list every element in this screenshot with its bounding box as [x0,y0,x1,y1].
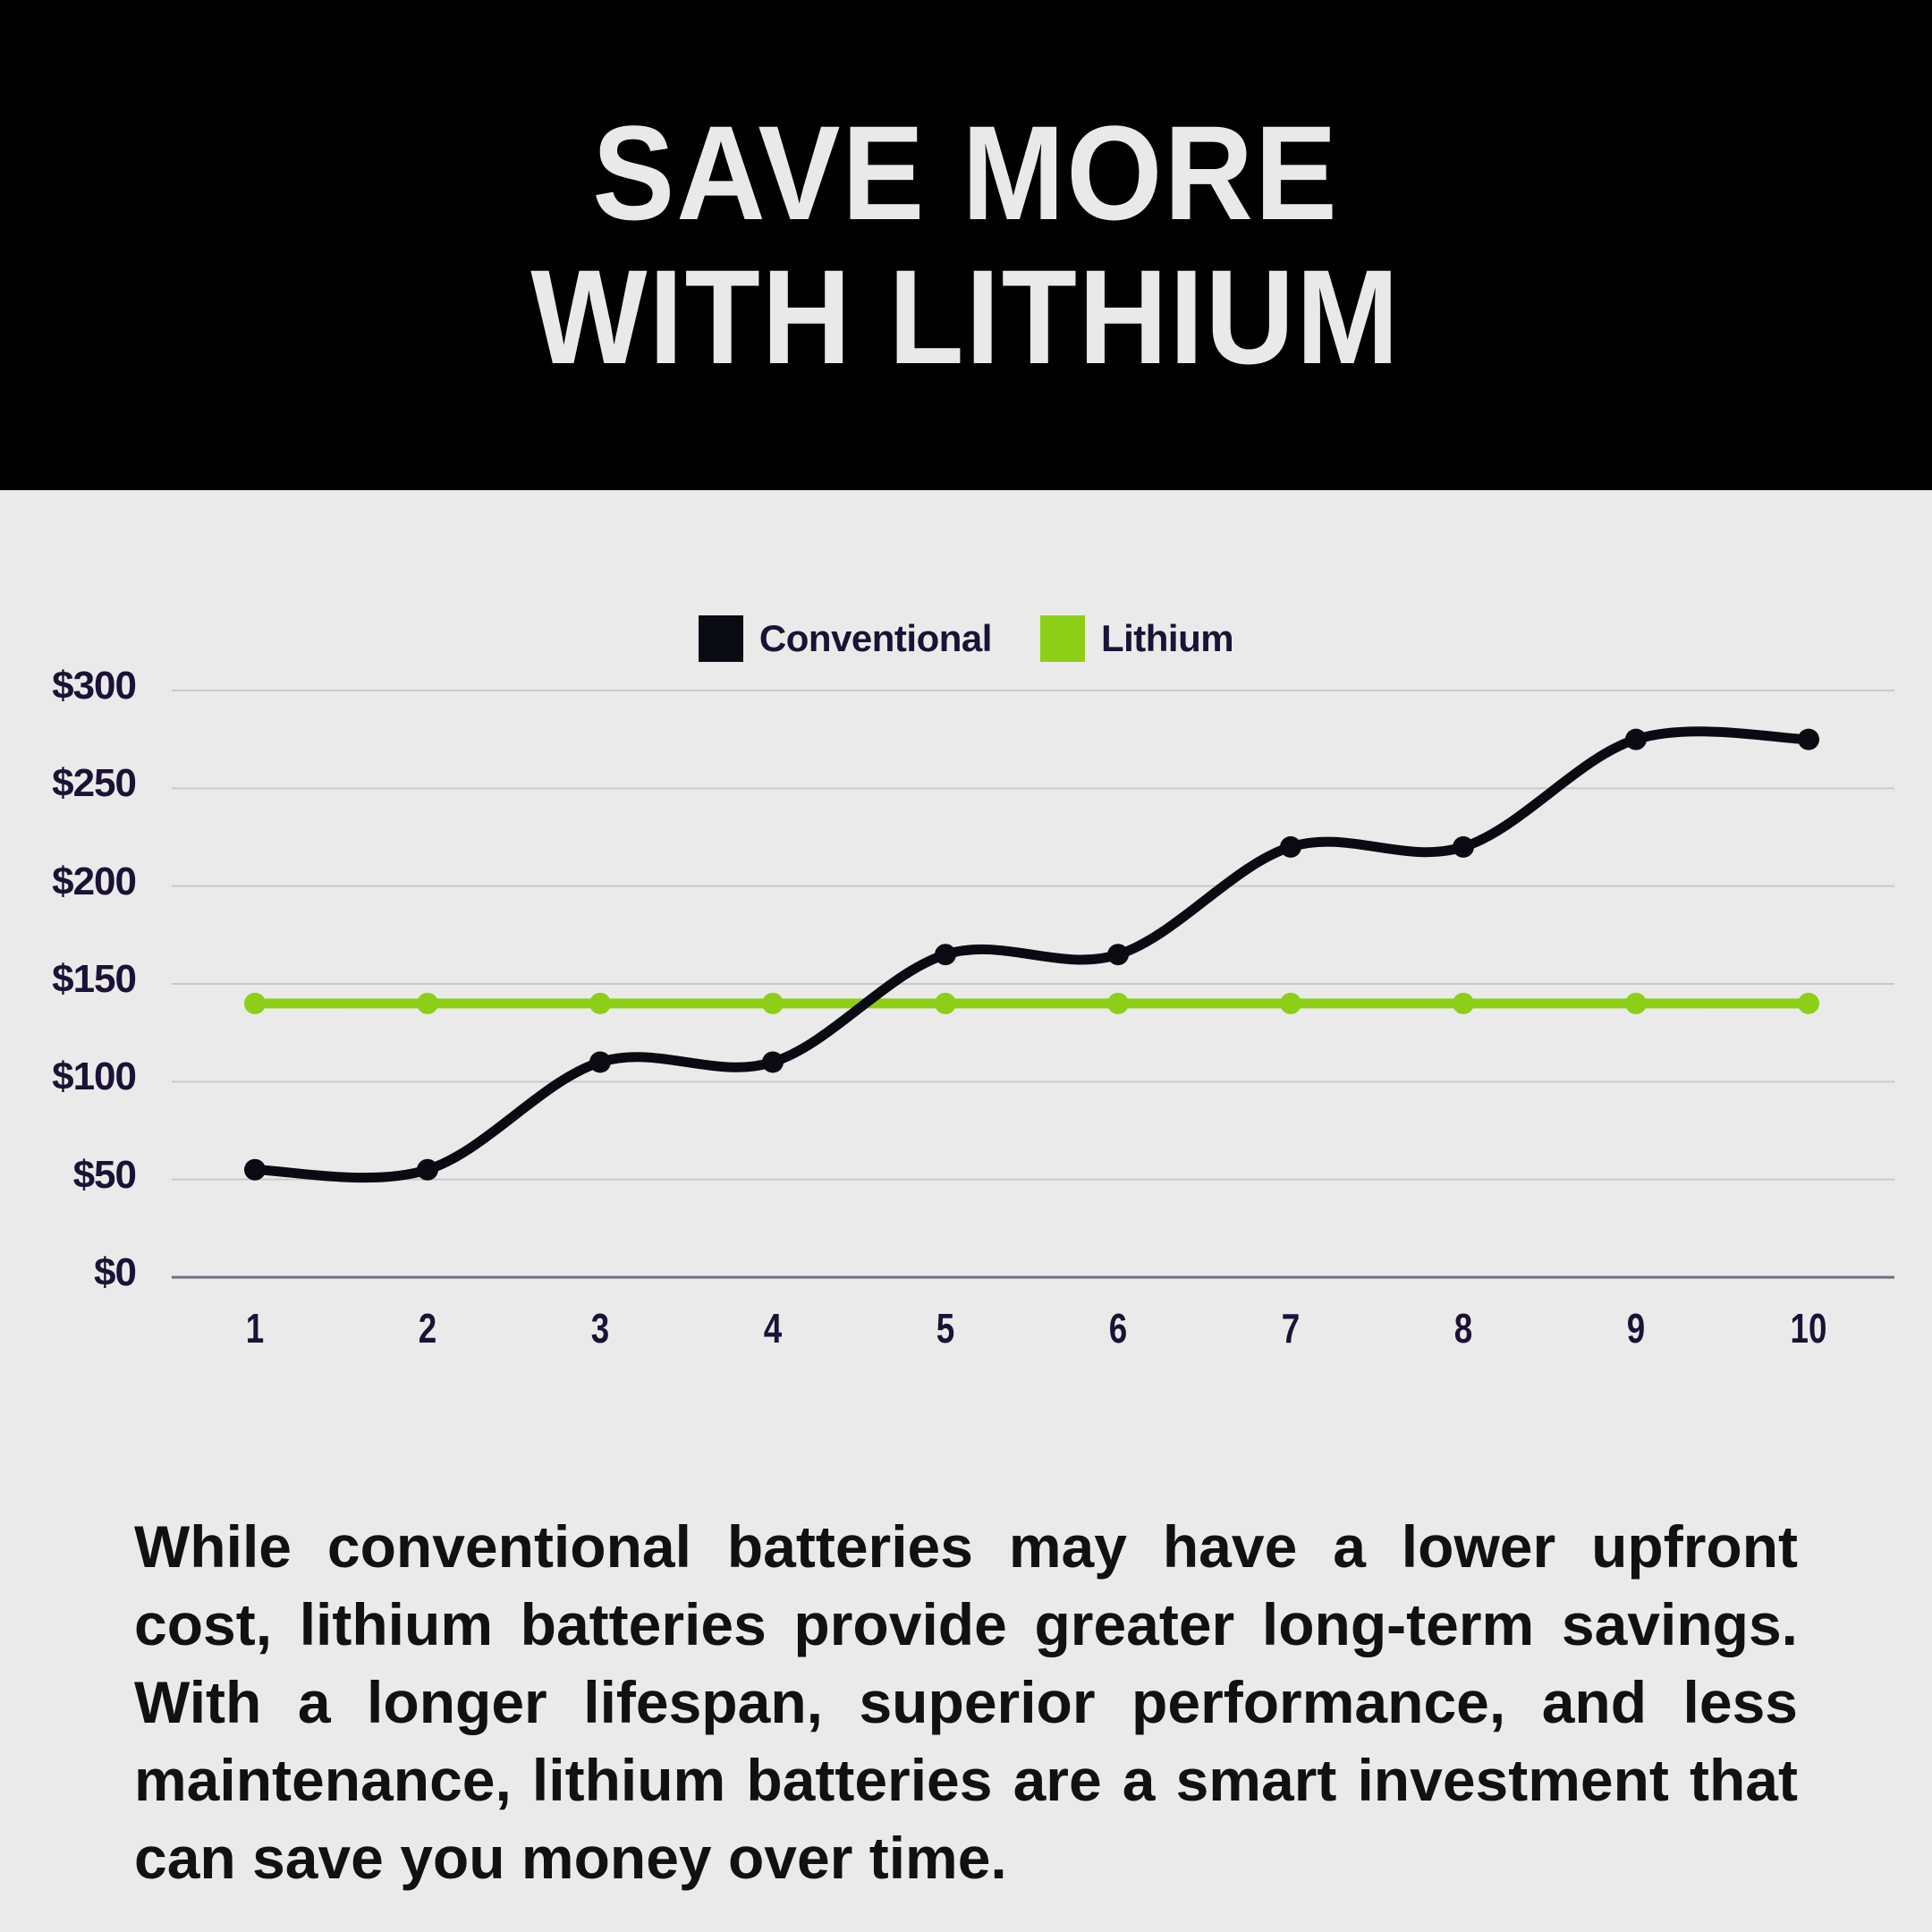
data-point[interactable] [935,993,956,1014]
page-title-line-2: WITH LITHIUM [531,249,1402,386]
series-line [255,732,1809,1178]
y-axis-tick-label: $100 [0,1055,136,1099]
x-axis-tick-label: 2 [385,1304,470,1352]
x-axis-tick-label: 4 [730,1304,816,1352]
data-point[interactable] [1107,944,1129,965]
y-axis-tick-label: $0 [0,1250,136,1295]
data-point[interactable] [1453,836,1474,858]
y-axis-tick-label: $250 [0,761,136,806]
x-axis-tick-label: 6 [1075,1304,1161,1352]
y-axis-tick-label: $50 [0,1153,136,1198]
data-point[interactable] [1280,993,1301,1014]
data-point[interactable] [1625,729,1647,750]
data-point[interactable] [1625,993,1647,1014]
data-point[interactable] [244,993,266,1014]
y-axis-tick-label: $150 [0,957,136,1002]
data-point[interactable] [244,1159,266,1181]
header-banner: SAVE MORE WITH LITHIUM [0,0,1932,490]
plot-area: $300$250$200$150$100$50$012345678910 [0,490,1932,1394]
line-chart-svg [0,490,1932,1394]
data-point[interactable] [417,1159,438,1181]
y-axis-tick-label: $300 [0,664,136,708]
x-axis-tick-label: 9 [1593,1304,1679,1352]
x-axis-tick-label: 3 [557,1304,643,1352]
x-axis-tick-label: 7 [1248,1304,1334,1352]
data-point[interactable] [1107,993,1129,1014]
data-point[interactable] [589,1051,611,1072]
body-paragraph: While conventional batteries may have a … [134,1508,1798,1898]
data-point[interactable] [762,1051,784,1072]
data-point[interactable] [417,993,438,1014]
series-conventional [244,729,1819,1181]
data-point[interactable] [1453,993,1474,1014]
x-axis-tick-label: 10 [1766,1304,1851,1352]
data-point[interactable] [589,993,611,1014]
data-point[interactable] [1798,729,1819,750]
page-title-line-1: SAVE MORE [593,105,1339,241]
chart-section: Conventional Lithium $300$250$200$150$10… [0,490,1932,1394]
data-point[interactable] [935,944,956,965]
series-lithium [244,993,1819,1014]
data-point[interactable] [1798,993,1819,1014]
x-axis-tick-label: 8 [1420,1304,1506,1352]
data-point[interactable] [762,993,784,1014]
x-axis-tick-label: 1 [212,1304,298,1352]
data-point[interactable] [1280,836,1301,858]
x-axis-tick-label: 5 [902,1304,988,1352]
y-axis-tick-label: $200 [0,860,136,904]
